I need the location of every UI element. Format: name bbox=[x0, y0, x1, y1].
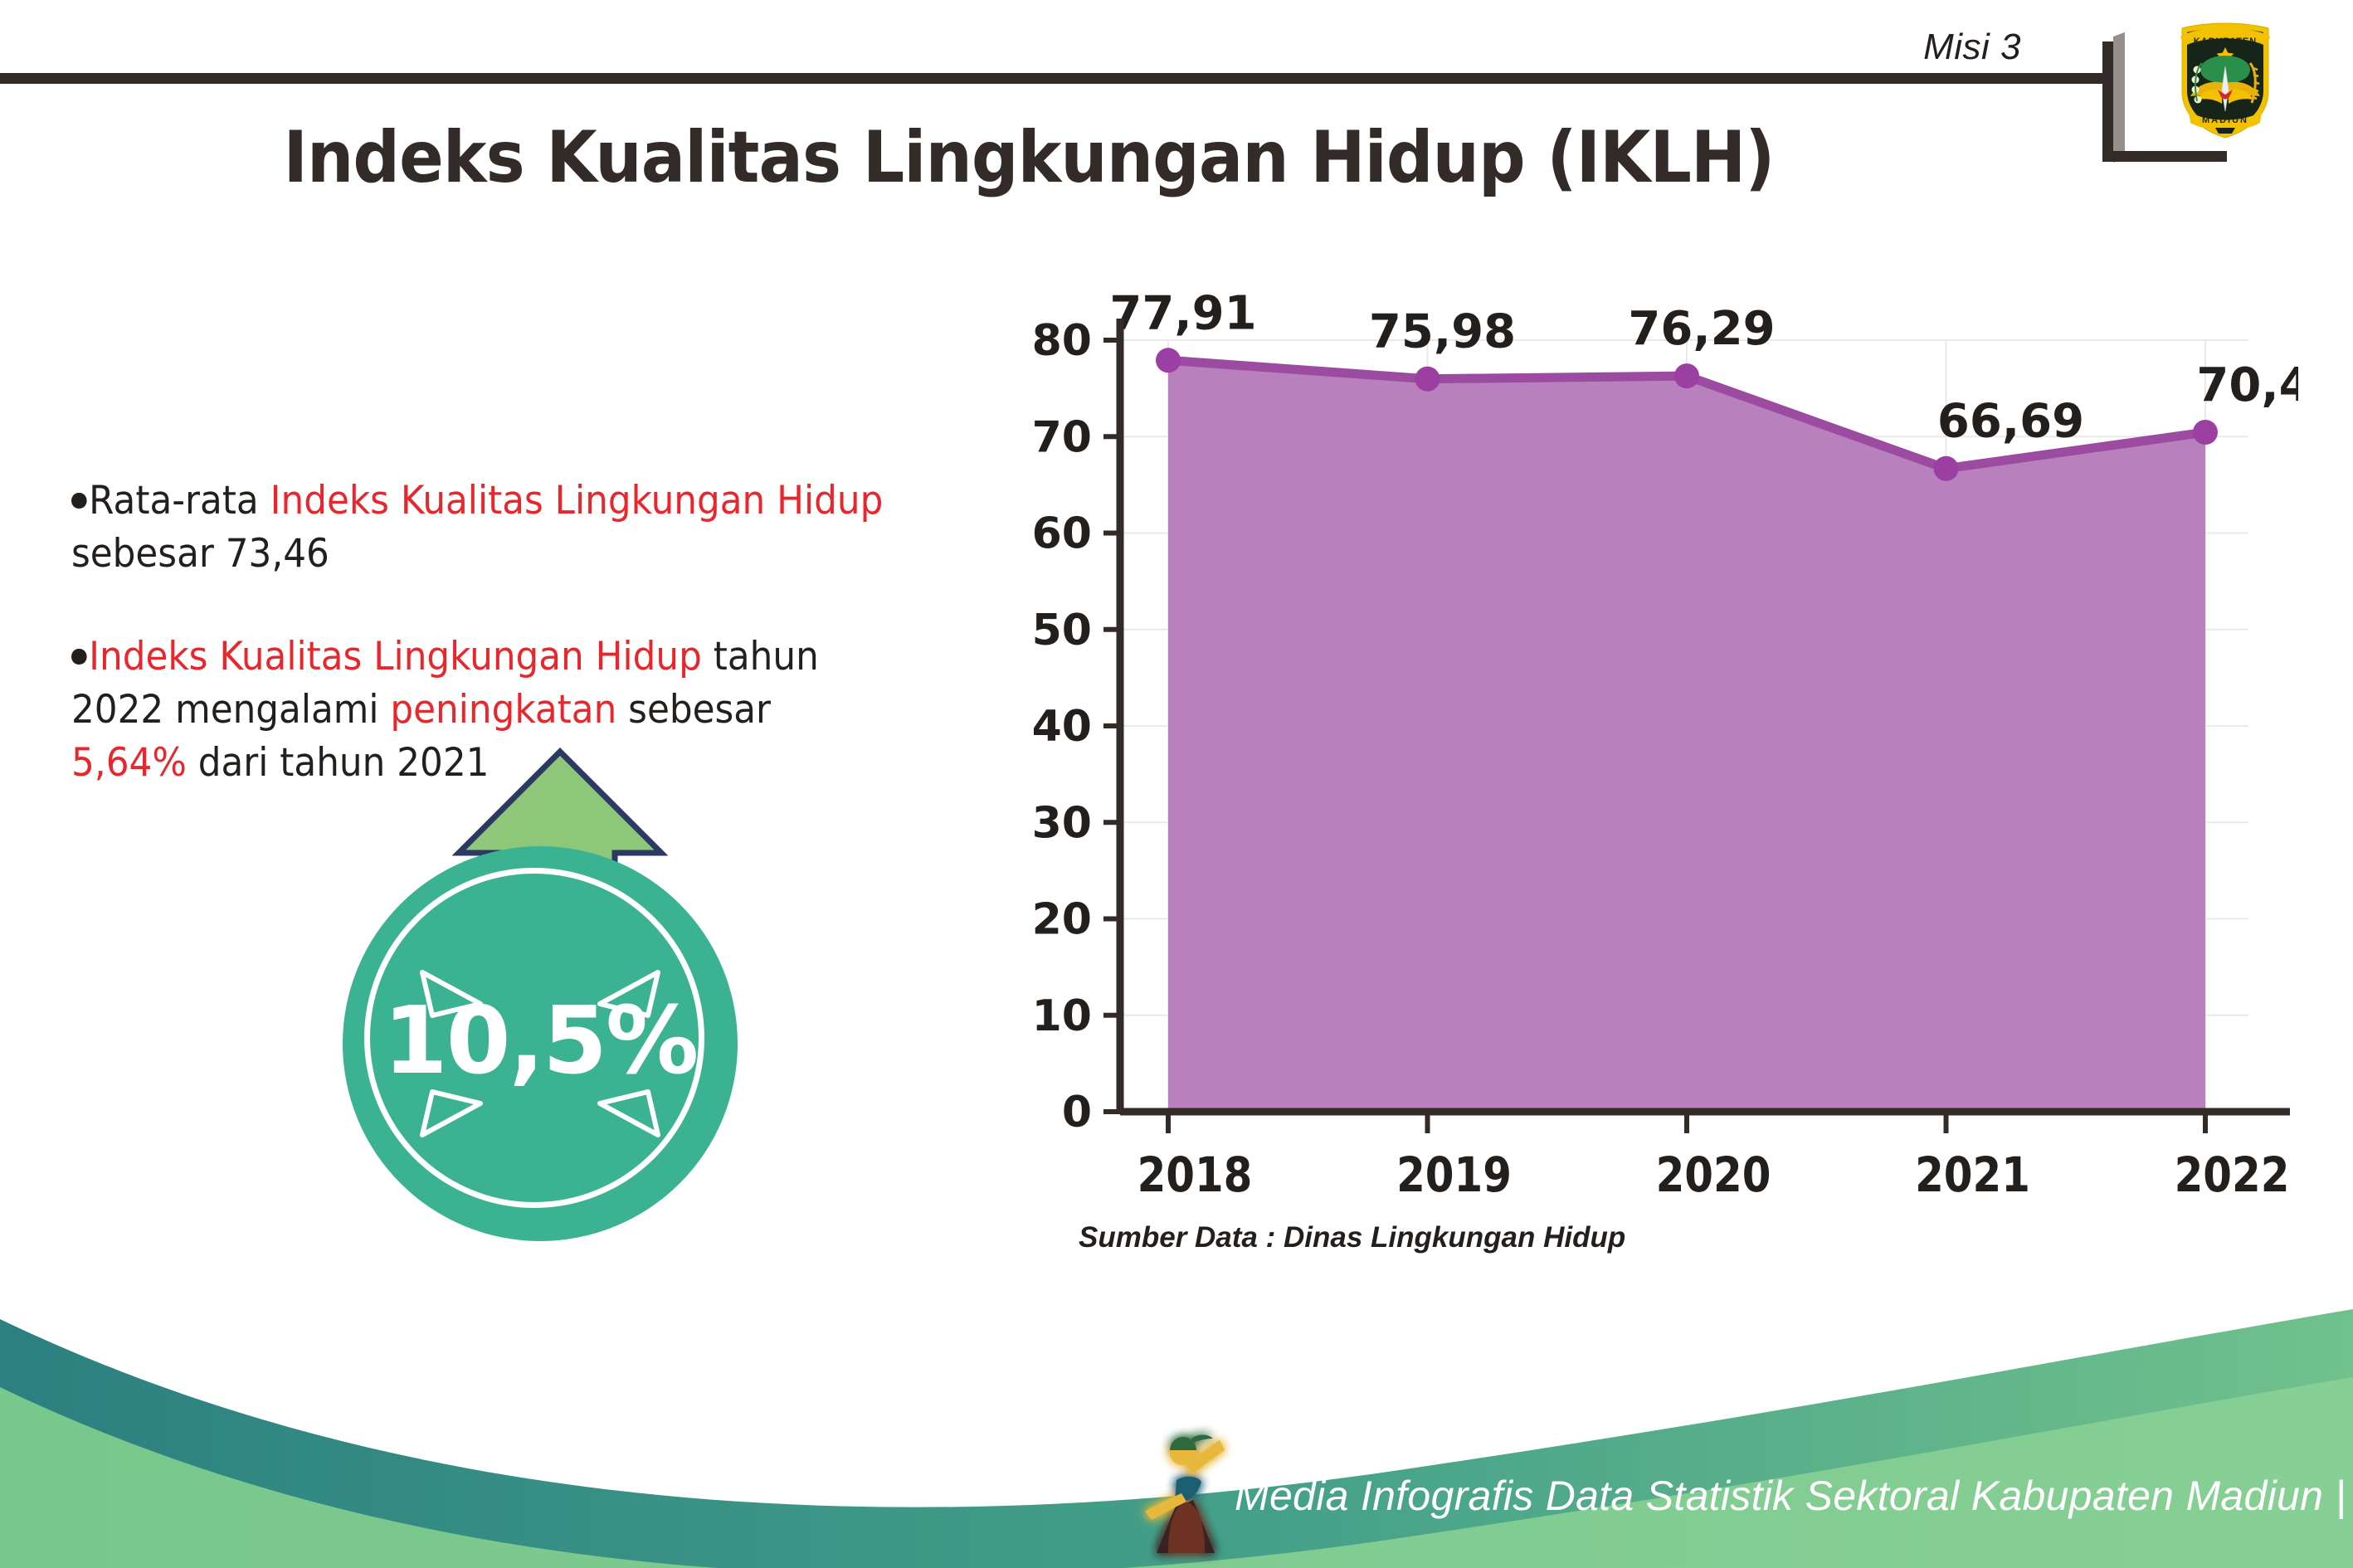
svg-text:KABUPATEN: KABUPATEN bbox=[2194, 37, 2257, 46]
iklh-area-chart: 01020304050607080 20182019202020212022 7… bbox=[954, 290, 2298, 1211]
svg-text:2020: 2020 bbox=[1656, 1147, 1771, 1203]
highlighted-text: Indeks Kualitas Lingkungan Hidup bbox=[89, 634, 702, 679]
bullet-average-text: Rata-rata Indeks Kualitas Lingkungan Hid… bbox=[71, 478, 883, 577]
page-title: Indeks Kualitas Lingkungan Hidup (IKLH) bbox=[82, 116, 1975, 199]
highlighted-text: Indeks Kualitas Lingkungan Hidup bbox=[270, 478, 884, 523]
svg-text:20: 20 bbox=[1032, 895, 1092, 945]
kabupaten-madiun-emblem-icon: KABUPATEN MADIUN bbox=[2174, 18, 2277, 141]
svg-text:66,69: 66,69 bbox=[1937, 395, 2084, 449]
svg-text:70,45: 70,45 bbox=[2196, 358, 2298, 412]
media-infografis-logo-icon bbox=[1138, 1429, 1234, 1553]
svg-text:80: 80 bbox=[1032, 316, 1092, 366]
svg-text:2021: 2021 bbox=[1915, 1147, 2030, 1203]
misi-label: Misi 3 bbox=[1923, 27, 2021, 68]
header-bracket-vertical bbox=[2102, 41, 2113, 162]
svg-text:0: 0 bbox=[1062, 1088, 1092, 1137]
badge-value: 10,5% bbox=[343, 987, 738, 1095]
header-bracket-shadow bbox=[2113, 32, 2125, 163]
chart-y-axis-labels: 01020304050607080 bbox=[1032, 316, 1092, 1137]
chart-svg: 01020304050607080 20182019202020212022 7… bbox=[954, 290, 2298, 1211]
bullet-average: Rata-rata Indeks Kualitas Lingkungan Hid… bbox=[71, 475, 897, 581]
svg-text:MADIUN: MADIUN bbox=[2202, 115, 2248, 125]
svg-text:50: 50 bbox=[1032, 606, 1092, 655]
svg-text:10: 10 bbox=[1032, 991, 1092, 1041]
bullet-dot-icon bbox=[71, 493, 86, 509]
infographic-page: Misi 3 KABUPATEN MADIUN bbox=[0, 0, 2353, 1568]
svg-text:2018: 2018 bbox=[1138, 1147, 1253, 1203]
svg-text:2019: 2019 bbox=[1396, 1147, 1512, 1203]
increase-badge: 10,5% bbox=[328, 747, 776, 1211]
plain-text: Rata-rata bbox=[89, 478, 270, 523]
header-bracket-horizontal bbox=[2102, 151, 2227, 162]
plain-text: sebesar 73,46 bbox=[71, 531, 329, 577]
svg-text:30: 30 bbox=[1032, 798, 1092, 848]
plain-text: sebesar bbox=[616, 687, 771, 733]
bullet-dot-icon bbox=[71, 649, 86, 665]
svg-text:40: 40 bbox=[1032, 702, 1092, 752]
highlighted-text: 5,64% bbox=[71, 740, 187, 786]
chart-x-axis-labels: 20182019202020212022 bbox=[1138, 1147, 2290, 1203]
svg-text:70: 70 bbox=[1032, 412, 1092, 462]
svg-text:60: 60 bbox=[1032, 509, 1092, 559]
svg-text:77,91: 77,91 bbox=[1109, 290, 1256, 340]
chart-area-fill bbox=[1168, 360, 2205, 1112]
chart-source-note: Sumber Data : Dinas Lingkungan Hidup bbox=[1079, 1221, 1625, 1254]
svg-text:76,29: 76,29 bbox=[1628, 302, 1775, 356]
header-rule bbox=[0, 73, 2102, 84]
svg-text:75,98: 75,98 bbox=[1369, 305, 1516, 359]
highlighted-text: peningkatan bbox=[390, 687, 616, 733]
svg-text:2022: 2022 bbox=[2175, 1147, 2290, 1203]
footer-caption: Media Infografis Data Statistik Sektoral… bbox=[1235, 1472, 2346, 1520]
